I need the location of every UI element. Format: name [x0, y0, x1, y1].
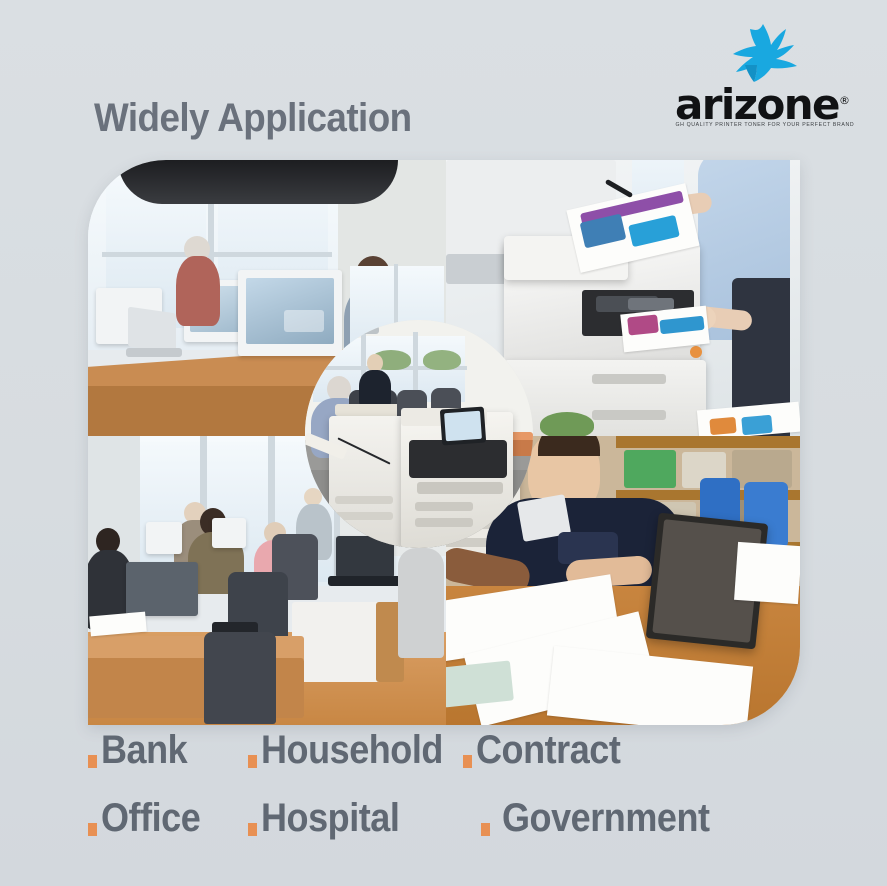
bullet-icon [248, 823, 257, 836]
brand-logo: arizone® GH QUALITY PRINTER TONER FOR YO… [675, 22, 835, 140]
header: Widely Application arizone® GH QUALITY P… [0, 0, 887, 160]
registered-mark: ® [839, 94, 850, 107]
page-title: Widely Application [94, 96, 412, 141]
keyword-bank: Bank [88, 728, 248, 773]
collage-center-circle [305, 320, 533, 548]
keyword-hospital: Hospital [248, 796, 463, 841]
keyword-label: Bank [101, 728, 187, 773]
keyword-government: Government [481, 796, 733, 841]
keyword-label: Hospital [261, 796, 399, 841]
bullet-icon [481, 823, 490, 836]
logo-wordmark: arizone® [675, 80, 835, 126]
bird-icon [723, 22, 801, 84]
keyword-row-1: Bank Household Contract [88, 728, 848, 796]
keyword-label: Contract [476, 728, 620, 773]
bullet-icon [248, 755, 257, 768]
keyword-label: Government [502, 796, 710, 841]
bullet-icon [88, 755, 97, 768]
keyword-household: Household [248, 728, 463, 773]
logo-tagline: GH QUALITY PRINTER TONER FOR YOUR PERFEC… [675, 122, 834, 129]
poster-page: Widely Application arizone® GH QUALITY P… [0, 0, 887, 886]
application-keyword-list: Bank Household Contract Office Hospital [88, 728, 848, 864]
keyword-label: Office [101, 796, 200, 841]
image-collage [88, 160, 800, 725]
bullet-icon [463, 755, 472, 768]
keyword-contract: Contract [463, 728, 636, 773]
keyword-label: Household [261, 728, 443, 773]
keyword-row-2: Office Hospital Government [88, 796, 848, 864]
keyword-office: Office [88, 796, 248, 841]
bullet-icon [88, 823, 97, 836]
